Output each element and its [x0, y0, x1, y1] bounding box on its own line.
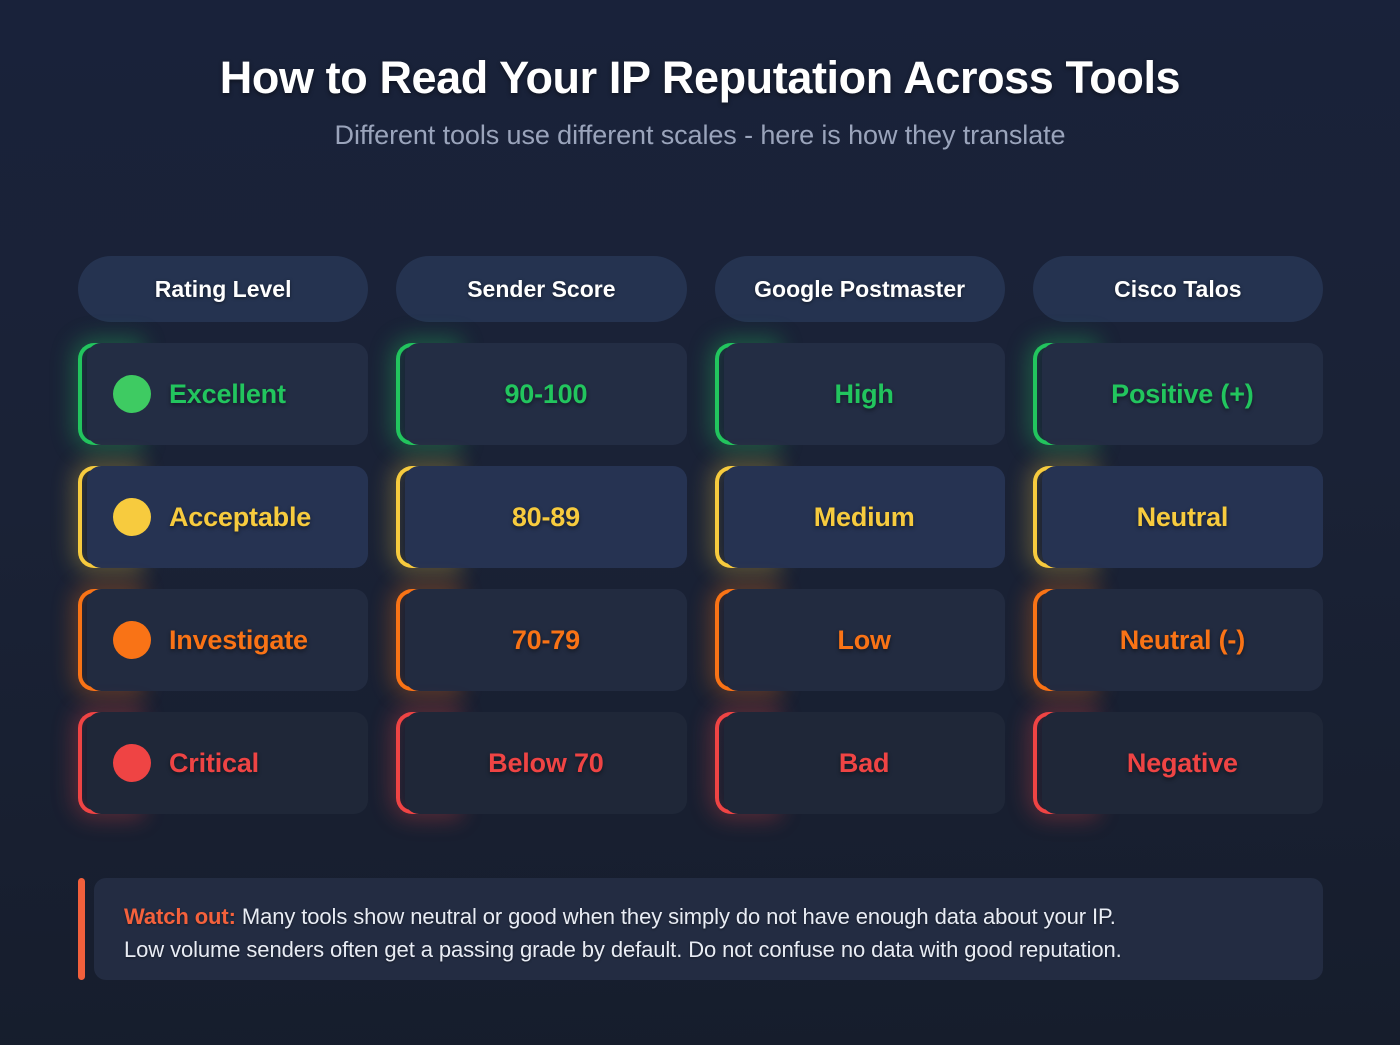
- cell-cisco-talos: Positive (+): [1033, 343, 1323, 445]
- column-header-rating-level: Rating Level: [78, 256, 368, 322]
- cisco-talos-value: Negative: [1127, 748, 1238, 779]
- cell-sender-score: 80-89: [396, 466, 686, 568]
- google-postmaster-value: Bad: [839, 748, 889, 779]
- column-header-sender-score: Sender Score: [396, 256, 686, 322]
- rating-level-label: Excellent: [169, 379, 286, 410]
- rating-level-label: Acceptable: [169, 502, 311, 533]
- cell-google-postmaster: Bad: [715, 712, 1005, 814]
- google-postmaster-value: Medium: [814, 502, 915, 533]
- page-title: How to Read Your IP Reputation Across To…: [0, 52, 1400, 104]
- sender-score-value: 70-79: [512, 625, 580, 656]
- cell-google-postmaster: High: [715, 343, 1005, 445]
- callout-body: Watch out: Many tools show neutral or go…: [94, 878, 1323, 980]
- column-header-google-postmaster: Google Postmaster: [715, 256, 1005, 322]
- cell-cisco-talos: Negative: [1033, 712, 1323, 814]
- cisco-talos-value: Neutral (-): [1120, 625, 1245, 656]
- table-row: Excellent 90-100 High Positive (+): [78, 343, 1323, 445]
- cisco-talos-value: Positive (+): [1111, 379, 1253, 410]
- status-dot-icon: [113, 498, 151, 536]
- warning-callout: Watch out: Many tools show neutral or go…: [78, 878, 1323, 980]
- sender-score-value: 80-89: [512, 502, 580, 533]
- cell-sender-score: Below 70: [396, 712, 686, 814]
- table-row: Acceptable 80-89 Medium Neutral: [78, 466, 1323, 568]
- cell-sender-score: 90-100: [396, 343, 686, 445]
- sender-score-value: 90-100: [504, 379, 587, 410]
- status-dot-icon: [113, 621, 151, 659]
- callout-line-2: Low volume senders often get a passing g…: [124, 933, 1293, 966]
- status-dot-icon: [113, 375, 151, 413]
- status-dot-icon: [113, 744, 151, 782]
- page-header: How to Read Your IP Reputation Across To…: [0, 0, 1400, 151]
- column-header-cisco-talos: Cisco Talos: [1033, 256, 1323, 322]
- sender-score-value: Below 70: [488, 748, 603, 779]
- cisco-talos-value: Neutral: [1137, 502, 1229, 533]
- cell-google-postmaster: Low: [715, 589, 1005, 691]
- reputation-comparison-table: Rating Level Sender Score Google Postmas…: [78, 256, 1323, 835]
- table-row: Investigate 70-79 Low Neutral (-): [78, 589, 1323, 691]
- cell-sender-score: 70-79: [396, 589, 686, 691]
- callout-accent-bar: [78, 878, 85, 980]
- cell-rating-level: Acceptable: [78, 466, 368, 568]
- table-row: Critical Below 70 Bad Negative: [78, 712, 1323, 814]
- google-postmaster-value: High: [835, 379, 894, 410]
- google-postmaster-value: Low: [837, 625, 890, 656]
- table-header-row: Rating Level Sender Score Google Postmas…: [78, 256, 1323, 322]
- cell-cisco-talos: Neutral: [1033, 466, 1323, 568]
- callout-line-1: Watch out: Many tools show neutral or go…: [124, 900, 1293, 933]
- rating-level-label: Investigate: [169, 625, 308, 656]
- cell-rating-level: Critical: [78, 712, 368, 814]
- callout-text-1: Many tools show neutral or good when the…: [236, 904, 1116, 929]
- cell-cisco-talos: Neutral (-): [1033, 589, 1323, 691]
- callout-emphasis: Watch out:: [124, 904, 236, 929]
- cell-rating-level: Investigate: [78, 589, 368, 691]
- cell-google-postmaster: Medium: [715, 466, 1005, 568]
- page-subtitle: Different tools use different scales - h…: [0, 120, 1400, 151]
- rating-level-label: Critical: [169, 748, 259, 779]
- cell-rating-level: Excellent: [78, 343, 368, 445]
